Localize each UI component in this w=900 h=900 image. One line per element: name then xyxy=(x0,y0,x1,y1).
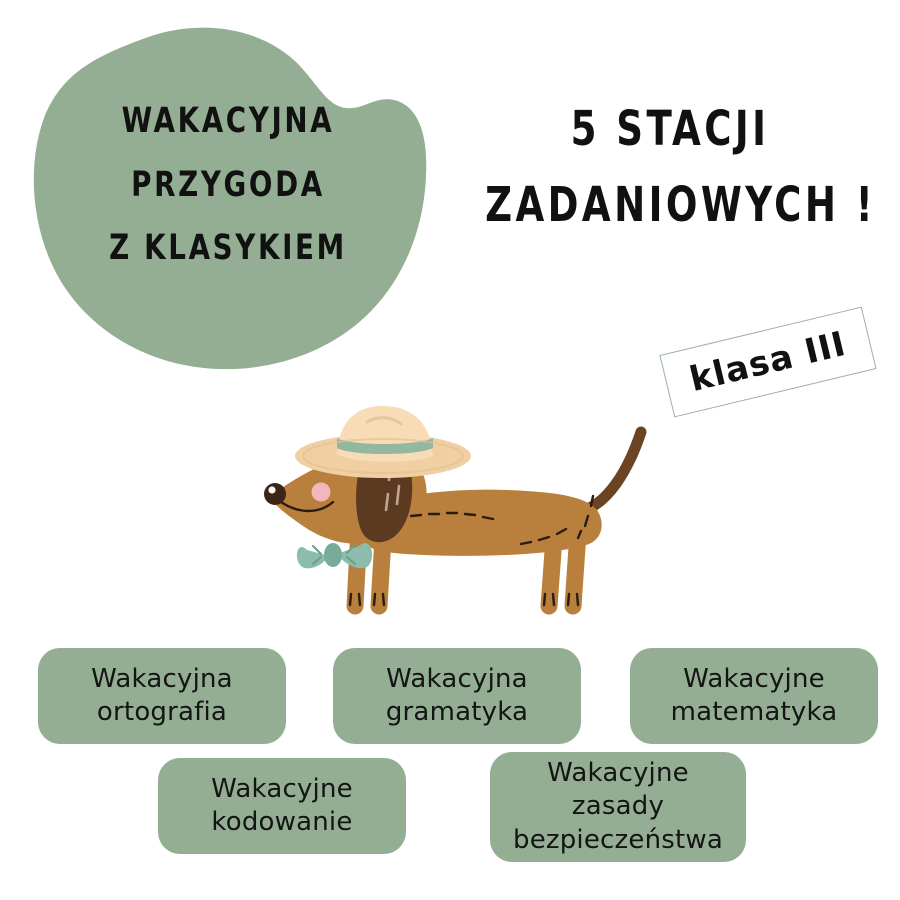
blob-heading-line-1: WAKACYJNA xyxy=(52,90,404,154)
headline-line-1: 5 STACJI xyxy=(485,92,855,168)
station-chip-label: Wakacyjna ortografia xyxy=(91,663,233,730)
main-headline: 5 STACJI ZADANIOWYCH ! xyxy=(455,92,885,244)
station-chip-zasady-bezpieczenstwa[interactable]: Wakacyjne zasady bezpieczeństwa xyxy=(490,752,746,862)
station-chip-kodowanie[interactable]: Wakacyjne kodowanie xyxy=(158,758,406,854)
bowtie xyxy=(297,543,372,568)
poster-canvas: WAKACYJNA PRZYGODA Z KLASYKIEM 5 STACJI … xyxy=(0,0,900,900)
headline-line-2: ZADANIOWYCH ! xyxy=(485,168,855,244)
station-chip-label: Wakacyjne zasady bezpieczeństwa xyxy=(513,757,723,857)
klasa-badge: klasa III xyxy=(659,307,876,418)
station-chip-matematyka[interactable]: Wakacyjne matematyka xyxy=(630,648,878,744)
station-chip-label: Wakacyjna gramatyka xyxy=(386,663,528,730)
klasa-badge-label: klasa III xyxy=(686,324,850,400)
blob-heading-line-3: Z KLASYKIEM xyxy=(52,217,404,281)
dachshund-illustration xyxy=(255,398,685,638)
blob-heading-line-2: PRZYGODA xyxy=(52,154,404,218)
station-chip-gramatyka[interactable]: Wakacyjna gramatyka xyxy=(333,648,581,744)
station-chip-ortografia[interactable]: Wakacyjna ortografia xyxy=(38,648,286,744)
dachshund-with-straw-hat-icon xyxy=(255,398,685,638)
station-chip-label: Wakacyjne matematyka xyxy=(671,663,838,730)
blob-heading: WAKACYJNA PRZYGODA Z KLASYKIEM xyxy=(52,90,404,281)
green-blob-panel: WAKACYJNA PRZYGODA Z KLASYKIEM xyxy=(28,22,428,372)
straw-hat xyxy=(295,406,471,478)
station-chip-label: Wakacyjne kodowanie xyxy=(211,773,353,840)
